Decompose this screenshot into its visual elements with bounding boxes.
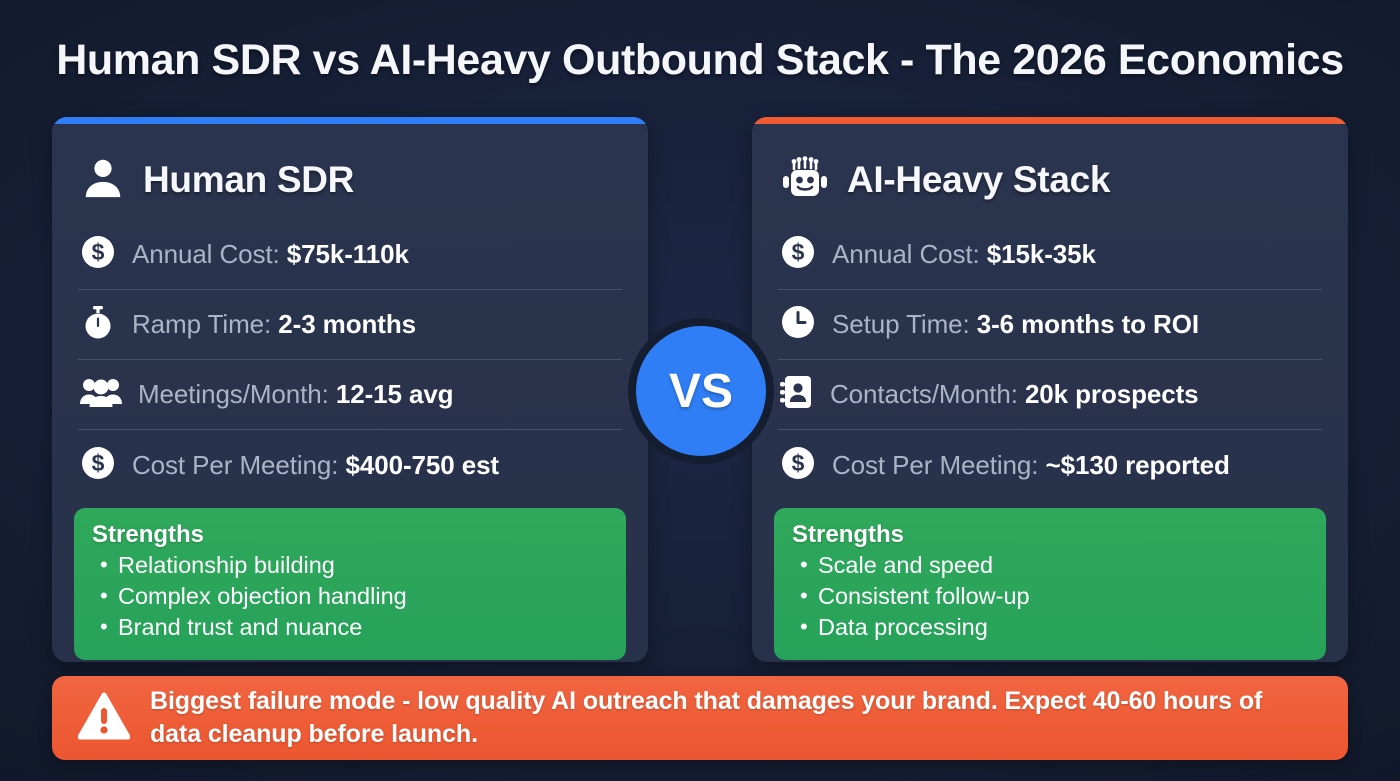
ai-heavy-stack-card: AI-Heavy Stack $ Annual Cost: $15k-35k	[752, 117, 1348, 662]
metric-value: 2-3 months	[278, 309, 416, 339]
robot-icon	[780, 155, 830, 206]
warning-banner: Biggest failure mode - low quality AI ou…	[52, 676, 1348, 760]
metric-label: Ramp Time:	[132, 309, 278, 339]
metric-row-annual-cost: $ Annual Cost: $15k-35k	[778, 220, 1322, 290]
dollar-circle-icon: $	[80, 445, 116, 486]
strengths-list: Scale and speed Consistent follow-up Dat…	[792, 550, 1308, 643]
warning-triangle-icon	[78, 692, 130, 745]
strengths-list: Relationship building Complex objection …	[92, 550, 608, 643]
metric-row-setup-time: Setup Time: 3-6 months to ROI	[778, 290, 1322, 360]
metric-value: 3-6 months to ROI	[977, 309, 1199, 339]
human-sdr-card: Human SDR $ Annual Cost: $75k-110k	[52, 117, 648, 662]
page-title: Human SDR vs AI-Heavy Outbound Stack - T…	[0, 36, 1400, 85]
metric-label: Cost Per Meeting:	[832, 450, 1046, 480]
strengths-list-item: Brand trust and nuance	[118, 612, 608, 643]
ai-heavy-stack-strengths-box: Strengths Scale and speed Consistent fol…	[774, 508, 1326, 660]
metric-row-annual-cost: $ Annual Cost: $75k-110k	[78, 220, 622, 290]
human-sdr-card-title: Human SDR	[143, 159, 354, 201]
strengths-heading: Strengths	[792, 521, 1308, 549]
strengths-list-item: Data processing	[818, 612, 1308, 643]
strengths-heading: Strengths	[92, 521, 608, 549]
metric-value: $400-750 est	[346, 450, 499, 480]
ai-heavy-stack-card-title: AI-Heavy Stack	[847, 159, 1110, 201]
dollar-circle-icon: $	[780, 234, 816, 275]
right-card-accent-bar	[752, 117, 1348, 124]
metric-value: 20k prospects	[1025, 379, 1199, 409]
metric-label: Meetings/Month:	[138, 379, 336, 409]
stopwatch-icon	[80, 304, 116, 345]
svg-text:$: $	[92, 450, 105, 476]
metric-value: 12-15 avg	[336, 379, 454, 409]
human-sdr-card-header: Human SDR	[78, 144, 622, 216]
metric-value: $15k-35k	[987, 239, 1096, 269]
clock-icon	[780, 304, 816, 345]
users-group-icon	[80, 376, 122, 413]
strengths-list-item: Consistent follow-up	[818, 581, 1308, 612]
strengths-list-item: Relationship building	[118, 550, 608, 581]
human-sdr-metric-list: $ Annual Cost: $75k-110k	[78, 220, 622, 500]
ai-heavy-stack-metric-list: $ Annual Cost: $15k-35k	[778, 220, 1322, 500]
dollar-circle-icon: $	[80, 234, 116, 275]
metric-label: Setup Time:	[832, 309, 977, 339]
metric-row-ramp-time: Ramp Time: 2-3 months	[78, 290, 622, 360]
svg-text:$: $	[792, 450, 805, 476]
strengths-list-item: Scale and speed	[818, 550, 1308, 581]
metric-row-meetings-per-month: Meetings/Month: 12-15 avg	[78, 360, 622, 430]
svg-text:$: $	[92, 239, 105, 265]
metric-label: Annual Cost:	[832, 239, 987, 269]
svg-text:$: $	[792, 239, 805, 265]
left-card-accent-bar	[52, 117, 648, 124]
person-icon	[80, 155, 126, 206]
contact-card-icon	[780, 374, 814, 415]
infographic-root: Human SDR vs AI-Heavy Outbound Stack - T…	[0, 0, 1400, 781]
human-sdr-strengths-box: Strengths Relationship building Complex …	[74, 508, 626, 660]
metric-label: Annual Cost:	[132, 239, 287, 269]
vs-badge: VS	[628, 318, 774, 464]
ai-heavy-stack-card-header: AI-Heavy Stack	[778, 144, 1322, 216]
metric-value: $75k-110k	[287, 239, 409, 269]
metric-row-cost-per-meeting: $ Cost Per Meeting: ~$130 reported	[778, 430, 1322, 500]
warning-banner-text: Biggest failure mode - low quality AI ou…	[150, 685, 1320, 751]
metric-label: Cost Per Meeting:	[132, 450, 346, 480]
metric-row-cost-per-meeting: $ Cost Per Meeting: $400-750 est	[78, 430, 622, 500]
metric-row-contacts-per-month: Contacts/Month: 20k prospects	[778, 360, 1322, 430]
vs-badge-label: VS	[669, 364, 733, 419]
metric-label: Contacts/Month:	[830, 379, 1025, 409]
strengths-list-item: Complex objection handling	[118, 581, 608, 612]
metric-value: ~$130 reported	[1046, 450, 1230, 480]
dollar-circle-icon: $	[780, 445, 816, 486]
